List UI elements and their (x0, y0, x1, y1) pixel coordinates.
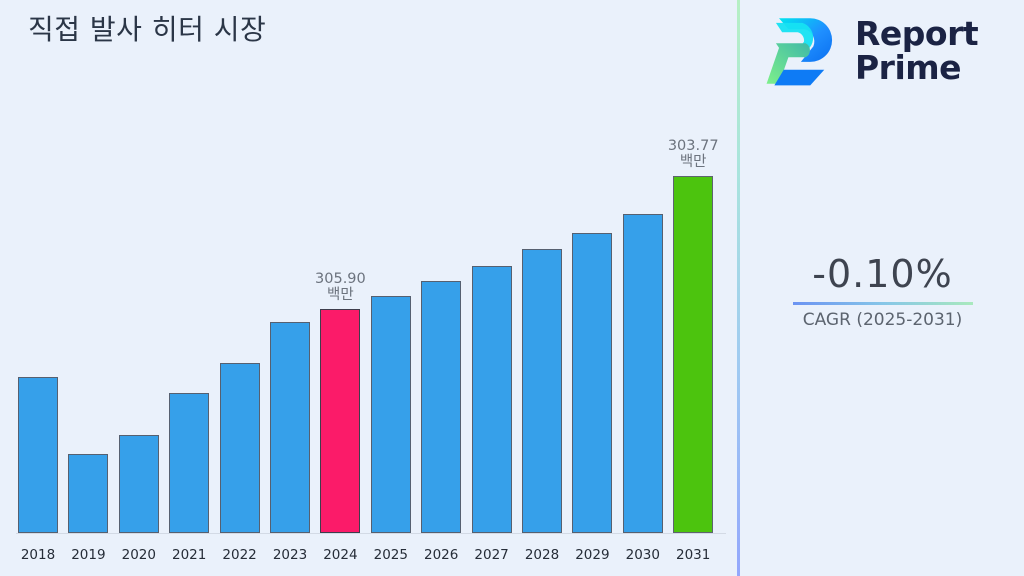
panel-divider (737, 0, 740, 576)
bar-2027[interactable] (472, 266, 512, 533)
x-tick-2028: 2028 (522, 547, 562, 563)
bar-2025[interactable] (371, 296, 411, 533)
bar-value-label-2024: 305.90백만 (315, 271, 366, 303)
bar-chart-plot-area: 201820192020202120222023305.90백만20242025… (0, 0, 738, 576)
x-axis-line (16, 533, 726, 534)
cagr-caption: CAGR (2025-2031) (741, 310, 1024, 330)
x-tick-2026: 2026 (421, 547, 461, 563)
bar-2021[interactable] (169, 393, 209, 533)
brand-name-line1: Report (855, 17, 978, 51)
cagr-block: -0.10% CAGR (2025-2031) (741, 252, 1024, 330)
x-tick-2025: 2025 (371, 547, 411, 563)
bar-2029[interactable] (572, 233, 612, 533)
bar-2020[interactable] (119, 435, 159, 533)
cagr-divider-rule (793, 302, 973, 305)
x-tick-2023: 2023 (270, 547, 310, 563)
x-tick-2029: 2029 (572, 547, 612, 563)
bar-value-number-2024: 305.90 (315, 271, 366, 287)
brand-name-line2: Prime (855, 51, 978, 85)
bar-value-unit-2024: 백만 (315, 287, 366, 303)
x-tick-2018: 2018 (18, 547, 58, 563)
bar-value-unit-2031: 백만 (668, 154, 719, 170)
brand-panel: Report Prime -0.10% CAGR (2025-2031) (741, 0, 1024, 576)
bar-2024[interactable] (320, 309, 360, 533)
x-tick-2020: 2020 (119, 547, 159, 563)
bar-value-label-2031: 303.77백만 (668, 138, 719, 170)
cagr-value: -0.10% (741, 252, 1024, 296)
bar-value-number-2031: 303.77 (668, 138, 719, 154)
bar-2030[interactable] (623, 214, 663, 533)
x-tick-2031: 2031 (673, 547, 713, 563)
x-tick-2019: 2019 (68, 547, 108, 563)
chart-panel: 직접 발사 히터 시장 201820192020202120222023305.… (0, 0, 738, 576)
bar-2028[interactable] (522, 249, 562, 533)
bar-2018[interactable] (18, 377, 58, 533)
brand-logo[interactable]: Report Prime (765, 12, 978, 90)
x-tick-2022: 2022 (220, 547, 260, 563)
bar-2031[interactable] (673, 176, 713, 533)
x-tick-2030: 2030 (623, 547, 663, 563)
bar-2026[interactable] (421, 281, 461, 533)
x-tick-2024: 2024 (320, 547, 360, 563)
x-tick-2021: 2021 (169, 547, 209, 563)
bar-2023[interactable] (270, 322, 310, 533)
report-prime-logo-icon (765, 12, 843, 90)
brand-wordmark: Report Prime (855, 17, 978, 86)
bar-2019[interactable] (68, 454, 108, 533)
x-tick-2027: 2027 (472, 547, 512, 563)
bar-2022[interactable] (220, 363, 260, 533)
